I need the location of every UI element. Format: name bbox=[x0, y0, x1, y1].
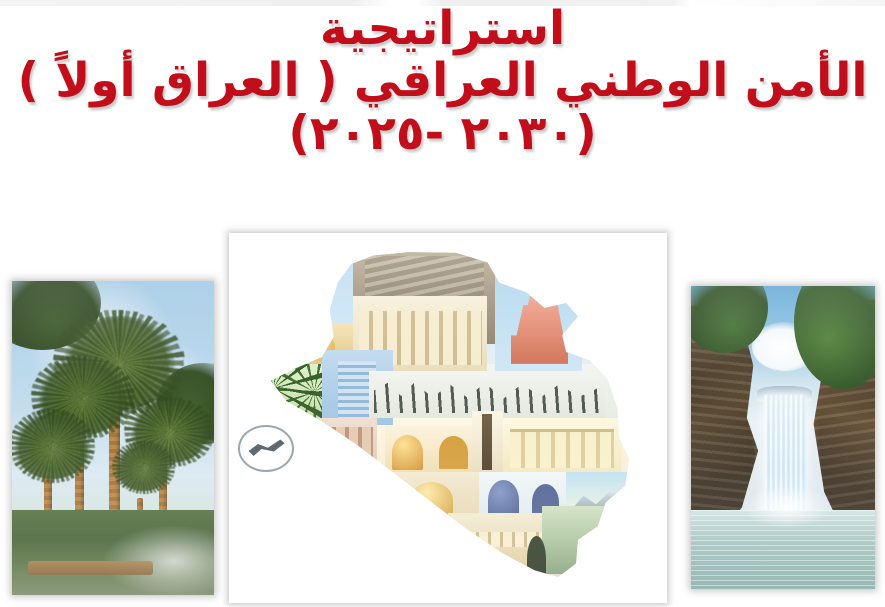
desert-tile bbox=[369, 547, 550, 588]
date-palm-grove-photo bbox=[12, 281, 214, 595]
title-line-1: استراتيجية bbox=[0, 4, 885, 54]
waterfall-scene bbox=[691, 286, 875, 589]
twin-golden-domes-tile bbox=[385, 425, 472, 472]
palm-crown-3 bbox=[14, 413, 91, 479]
green-landscape-tile bbox=[542, 506, 644, 574]
iraq-map-collage bbox=[229, 233, 667, 603]
palm-scene bbox=[12, 281, 214, 595]
waterfall-gorge-photo bbox=[691, 286, 875, 589]
cover-page: استراتيجية الأمن الوطني العراقي ( العراق… bbox=[0, 0, 885, 607]
eagle-emblem-icon bbox=[238, 425, 294, 472]
water-spray bbox=[743, 486, 831, 528]
title-line-2: الأمن الوطني العراقي ( العراق أولاً ) bbox=[0, 56, 885, 106]
karbala-shrine-tile bbox=[283, 472, 385, 523]
brick-minaret-tile bbox=[472, 411, 504, 472]
ziggurat-tile bbox=[495, 259, 582, 371]
grove-ground bbox=[12, 510, 214, 595]
map-stage bbox=[234, 238, 662, 598]
iraq-map-outline bbox=[251, 249, 645, 587]
marshlands-tile bbox=[330, 520, 464, 567]
palm-crown-5 bbox=[115, 444, 172, 491]
ancient-palace-tile bbox=[503, 418, 621, 472]
page-title: استراتيجية الأمن الوطني العراقي ( العراق… bbox=[0, 4, 885, 159]
cypress-tree bbox=[527, 536, 547, 583]
title-line-3: (٢٠٣٠ -٢٠٢٥) bbox=[0, 109, 885, 159]
